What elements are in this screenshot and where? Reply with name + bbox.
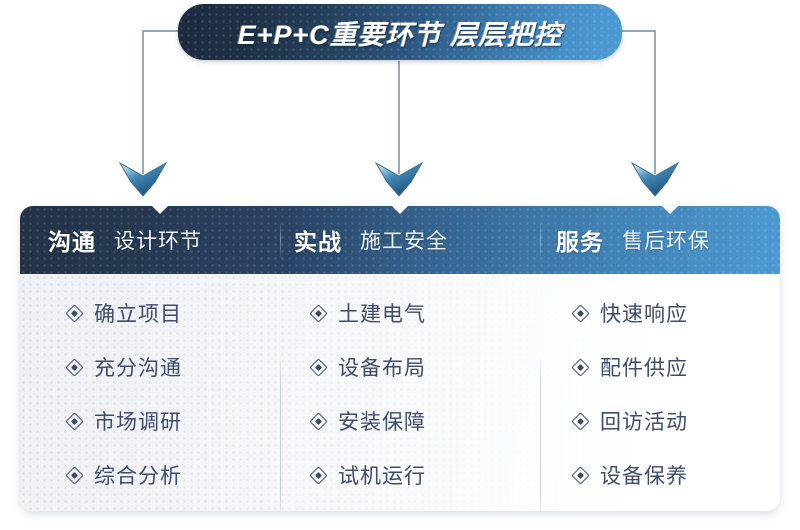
header-divider-1 bbox=[280, 222, 281, 258]
list-item[interactable]: 试机运行 bbox=[312, 448, 528, 502]
connector-middle bbox=[376, 61, 422, 196]
list-item[interactable]: 设备保养 bbox=[574, 448, 780, 502]
diamond-bullet-icon bbox=[571, 412, 589, 430]
body-divider-1 bbox=[280, 354, 281, 511]
diamond-bullet-icon bbox=[309, 358, 327, 376]
list-item-label: 设备保养 bbox=[600, 460, 688, 490]
diamond-bullet-icon bbox=[309, 304, 327, 322]
header-subtitle-execution: 施工安全 bbox=[360, 225, 448, 255]
list-item-label: 土建电气 bbox=[338, 298, 426, 328]
process-panel: 沟通 设计环节 实战 施工安全 服务 售后环保 确立项目 bbox=[20, 206, 780, 511]
list-column-execution: 土建电气 设备布局 安装保障 试机运行 bbox=[266, 274, 528, 511]
list-item[interactable]: 安装保障 bbox=[312, 394, 528, 448]
list-item[interactable]: 快速响应 bbox=[574, 286, 780, 340]
diamond-bullet-icon bbox=[65, 466, 83, 484]
list-item-label: 回访活动 bbox=[600, 406, 688, 436]
list-item[interactable]: 设备布局 bbox=[312, 340, 528, 394]
list-item[interactable]: 综合分析 bbox=[68, 448, 266, 502]
list-column-communication: 确立项目 充分沟通 市场调研 综合分析 bbox=[20, 274, 266, 511]
list-item[interactable]: 土建电气 bbox=[312, 286, 528, 340]
list-item[interactable]: 确立项目 bbox=[68, 286, 266, 340]
header-subtitle-service: 售后环保 bbox=[622, 225, 710, 255]
header-column-communication[interactable]: 沟通 设计环节 bbox=[20, 206, 266, 274]
list-item-label: 设备布局 bbox=[338, 352, 426, 382]
connector-left bbox=[120, 31, 200, 196]
diamond-bullet-icon bbox=[65, 304, 83, 322]
header-column-execution[interactable]: 实战 施工安全 bbox=[266, 206, 528, 274]
diamond-bullet-icon bbox=[571, 304, 589, 322]
panel-body: 确立项目 充分沟通 市场调研 综合分析 土建电气 bbox=[20, 274, 780, 511]
title-banner: E+P+C重要环节 层层把控 bbox=[178, 4, 622, 60]
diamond-bullet-icon bbox=[571, 466, 589, 484]
list-item-label: 确立项目 bbox=[94, 298, 182, 328]
diamond-bullet-icon bbox=[65, 358, 83, 376]
list-item[interactable]: 回访活动 bbox=[574, 394, 780, 448]
list-item-label: 快速响应 bbox=[600, 298, 688, 328]
list-item[interactable]: 充分沟通 bbox=[68, 340, 266, 394]
header-divider-2 bbox=[540, 222, 541, 258]
list-item[interactable]: 配件供应 bbox=[574, 340, 780, 394]
list-item[interactable]: 市场调研 bbox=[68, 394, 266, 448]
header-column-service[interactable]: 服务 售后环保 bbox=[528, 206, 780, 274]
list-item-label: 试机运行 bbox=[338, 460, 426, 490]
infographic-root: E+P+C重要环节 层层把控 沟通 设计环节 实战 施工安全 服务 售后环保 bbox=[0, 0, 800, 530]
header-title-service: 服务 bbox=[556, 223, 604, 257]
body-divider-2 bbox=[540, 354, 541, 511]
diamond-bullet-icon bbox=[65, 412, 83, 430]
list-column-service: 快速响应 配件供应 回访活动 设备保养 bbox=[528, 274, 780, 511]
list-item-label: 市场调研 bbox=[94, 406, 182, 436]
list-item-label: 充分沟通 bbox=[94, 352, 182, 382]
connector-right bbox=[600, 31, 678, 196]
list-item-label: 综合分析 bbox=[94, 460, 182, 490]
diamond-bullet-icon bbox=[309, 466, 327, 484]
panel-header: 沟通 设计环节 实战 施工安全 服务 售后环保 bbox=[20, 206, 780, 274]
list-item-label: 安装保障 bbox=[338, 406, 426, 436]
list-item-label: 配件供应 bbox=[600, 352, 688, 382]
header-subtitle-communication: 设计环节 bbox=[114, 225, 202, 255]
banner-title: E+P+C重要环节 层层把控 bbox=[238, 13, 563, 52]
header-title-communication: 沟通 bbox=[48, 223, 96, 257]
diamond-bullet-icon bbox=[571, 358, 589, 376]
diamond-bullet-icon bbox=[309, 412, 327, 430]
header-title-execution: 实战 bbox=[294, 223, 342, 257]
